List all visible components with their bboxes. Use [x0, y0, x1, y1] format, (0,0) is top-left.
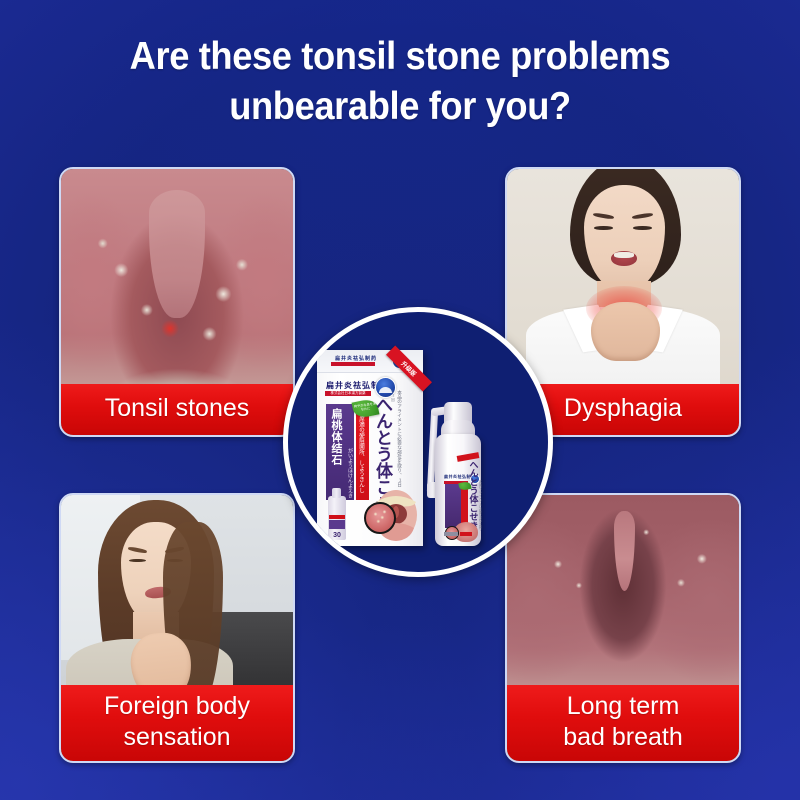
bottle-headline-jp: へんとう体こせき: [468, 460, 478, 530]
box-red-strip: 席適の硬阻開所、しようきんし: [356, 404, 369, 500]
bottle-body: 扁井炎祛弘制药 へんとう体こせき 本品のアライメントに必要な部位を取り: [435, 434, 481, 546]
box-top-brand-bar: [331, 362, 375, 366]
card-label-line-1: Long term: [511, 691, 735, 722]
magnifier-inset-icon: [364, 502, 396, 534]
status-badge: Tonsil stones: [61, 384, 293, 435]
box-fineprint-small: ン1回: [391, 390, 395, 401]
box-purple-panel: 扁桃体结石 がいようほけんよえき: [326, 404, 354, 500]
headline-line-2: unbearable for you?: [28, 82, 772, 132]
mouth-shape: [611, 251, 637, 266]
bottle-bottom-bar: [444, 532, 458, 536]
card-label-line-1: Foreign body: [65, 691, 289, 722]
box-fineprint: 本品のアライメントに必要な部位を取り、1日: [397, 390, 403, 487]
box-red-strip-text: 席適の硬阻開所、しようきんし: [358, 416, 364, 493]
volume-text: 30: [328, 532, 346, 539]
card-label-line-2: sensation: [65, 722, 289, 753]
bottle-fineprint: 本品のアライメントに必要な部位を取り: [478, 480, 481, 530]
card-label-line-2: bad breath: [511, 722, 735, 753]
mouth-anatomy-illustration: [366, 488, 418, 542]
box-brand-subbar: 株式会社日本漢方製薬: [325, 391, 371, 396]
spray-bottle: 扁井炎祛弘制药 へんとう体こせき 本品のアライメントに必要な部位を取り: [429, 374, 481, 546]
promo-banner: Are these tonsil stone problems unbearab…: [0, 0, 800, 800]
bottle-purple-label: [445, 484, 461, 528]
box-top-brand-text: 扁井炎祛弘制药: [335, 355, 377, 362]
box-product-kana: がいようほけんよえき: [347, 448, 353, 498]
symptom-card-foreign-body-sensation[interactable]: Foreign body sensation: [59, 493, 295, 763]
bottle-illustration-red-label: [329, 515, 345, 519]
hand-on-throat: [591, 302, 661, 361]
bottle-illustration-purple-label: [329, 520, 345, 529]
box-bottle-illustration: 30: [328, 496, 346, 540]
eye-right: [633, 226, 652, 230]
status-badge: Foreign body sensation: [61, 685, 293, 761]
card-label-line-1: Tonsil stones: [67, 393, 287, 424]
symptom-card-bad-breath[interactable]: Long term bad breath: [505, 493, 741, 763]
box-product-name-cn: 扁桃体结石: [330, 408, 342, 466]
bottle-bottom-red-bar: [460, 532, 472, 536]
symptom-card-tonsil-stones[interactable]: Tonsil stones: [59, 167, 295, 437]
headline-line-1: Are these tonsil stone problems: [28, 32, 772, 82]
product-box: 扁井炎祛弘制药 升级版 扁井炎祛弘制药 株式会社日本漢方製薬 扁桃体结石 がいよ…: [317, 350, 423, 546]
product-showcase-circle[interactable]: 扁井炎祛弘制药 升级版 扁井炎祛弘制药 株式会社日本漢方製薬 扁桃体结石 がいよ…: [283, 307, 553, 577]
page-title: Are these tonsil stone problems unbearab…: [28, 32, 772, 132]
status-badge: Long term bad breath: [507, 685, 739, 761]
eye-left: [594, 226, 613, 230]
